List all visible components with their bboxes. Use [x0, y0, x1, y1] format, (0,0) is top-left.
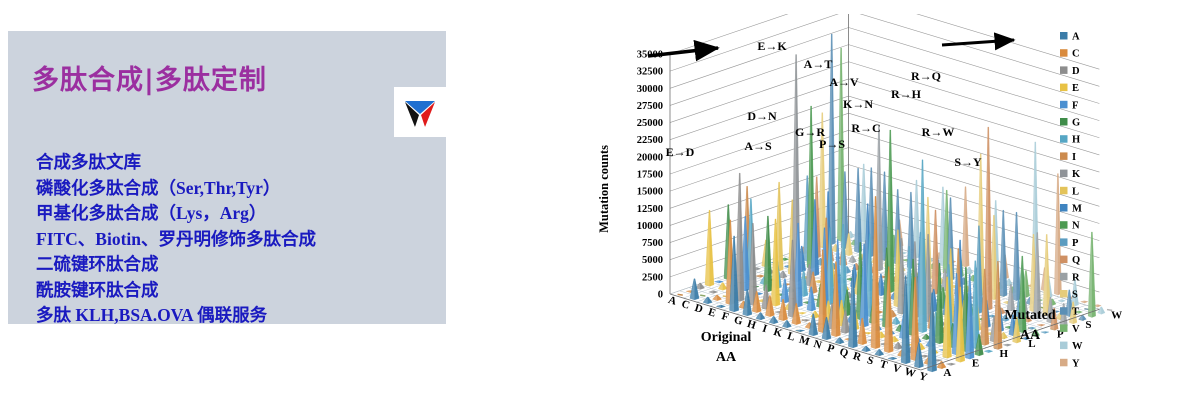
peak-annotation: R→C	[851, 121, 880, 135]
x-axis-title-line1: Original	[701, 330, 752, 345]
legend-swatch	[1060, 101, 1068, 109]
z-tick-label: 15000	[637, 187, 663, 198]
legend-swatch	[1060, 359, 1068, 367]
legend-label: Y	[1072, 358, 1080, 369]
y-axis-title-line2: AA	[1020, 328, 1041, 343]
peak-annotation: E→K	[757, 39, 787, 53]
list-item: 酰胺键环肽合成	[36, 278, 436, 304]
z-tick-label: 0	[658, 290, 663, 301]
legend-swatch	[1060, 342, 1068, 350]
z-tick-label: 20000	[637, 152, 663, 163]
legend-label: T	[1072, 307, 1079, 318]
legend-swatch	[1060, 32, 1068, 40]
legend-swatch	[1060, 118, 1068, 126]
legend-swatch	[1060, 135, 1068, 143]
legend-label: A	[1072, 32, 1080, 43]
peak-annotation: R→H	[891, 87, 922, 101]
legend-swatch	[1060, 49, 1068, 57]
legend-label: M	[1072, 204, 1082, 215]
legend-label: E	[1072, 83, 1079, 94]
z-tick-label: 17500	[637, 170, 663, 181]
legend-swatch	[1060, 307, 1068, 315]
legend-swatch	[1060, 238, 1068, 246]
z-tick-label: 22500	[637, 135, 663, 146]
legend-swatch	[1060, 170, 1068, 178]
legend-swatch	[1060, 152, 1068, 160]
y-tick-label: W	[1111, 309, 1122, 321]
y-tick-label: E	[972, 357, 979, 369]
peak-annotation: A→S	[744, 139, 772, 153]
peak-annotation: P→S	[819, 137, 845, 151]
z-tick-label: 10000	[637, 221, 663, 232]
legend-swatch	[1060, 66, 1068, 74]
x-axis-title-line2: AA	[716, 350, 737, 365]
y-tick-label: H	[999, 348, 1008, 360]
logo-icon	[394, 87, 446, 137]
peak-annotation: A→V	[829, 75, 859, 89]
peak-annotation: A→T	[804, 57, 833, 71]
z-tick-label: 30000	[637, 84, 663, 95]
list-item: 合成多肽文库	[36, 150, 436, 176]
list-item: FITC、Biotin、罗丹明修饰多肽合成	[36, 227, 436, 253]
legend-label: W	[1072, 341, 1083, 352]
legend-swatch	[1060, 221, 1068, 229]
z-tick-label: 27500	[637, 101, 663, 112]
peak-annotation: S→Y	[954, 155, 982, 169]
z-tick-label: 25000	[637, 118, 663, 129]
legend-swatch	[1060, 256, 1068, 264]
list-item: 二硫键环肽合成	[36, 252, 436, 278]
list-item: 磷酸化多肽合成（Ser,Thr,Tyr）	[36, 176, 436, 202]
legend-swatch	[1060, 324, 1068, 332]
z-tick-label: 7500	[642, 238, 663, 249]
peak-annotation: R→Q	[911, 69, 941, 83]
z-axis-title: Mutation counts	[597, 145, 611, 233]
legend-label: I	[1072, 152, 1076, 163]
z-tick-label: 5000	[642, 255, 663, 266]
legend-label: P	[1072, 238, 1079, 249]
list-item: 多肽 KLH,BSA.OVA 偶联服务	[36, 303, 436, 329]
z-tick-label: 32500	[637, 67, 663, 78]
legend-swatch	[1060, 204, 1068, 212]
legend-label: H	[1072, 135, 1080, 146]
peak-annotation: D→N	[747, 109, 777, 123]
legend-label: C	[1072, 49, 1080, 60]
mutation-counts-3d-chart: 3500032500300002750025000225002000017500…	[566, 14, 1192, 389]
legend-label: L	[1072, 186, 1079, 197]
chart-canvas: 3500032500300002750025000225002000017500…	[566, 14, 1192, 389]
legend-label: Q	[1072, 255, 1080, 266]
peak-annotation: E→D	[666, 145, 695, 159]
y-axis-title-line1: Mutated	[1004, 308, 1056, 323]
legend-label: R	[1072, 272, 1080, 283]
company-logo	[394, 87, 446, 137]
legend-label: G	[1072, 118, 1080, 129]
page-title: 多肽合成|多肽定制	[32, 58, 267, 97]
promo-panel: 多肽合成|多肽定制 合成多肽文库 磷酸化多肽合成（Ser,Thr,Tyr） 甲基…	[8, 31, 446, 324]
legend-label: S	[1072, 290, 1078, 301]
legend-label: N	[1072, 221, 1080, 232]
peak-annotation: K→N	[843, 97, 873, 111]
legend-label: V	[1072, 324, 1080, 335]
service-list: 合成多肽文库 磷酸化多肽合成（Ser,Thr,Tyr） 甲基化多肽合成（Lys，…	[36, 150, 436, 329]
z-tick-label: 12500	[637, 204, 663, 215]
legend-swatch	[1060, 273, 1068, 281]
legend-label: F	[1072, 100, 1078, 111]
y-tick-label: A	[943, 367, 951, 379]
y-tick-label: S	[1085, 319, 1091, 331]
legend-label: D	[1072, 66, 1080, 77]
z-tick-label: 2500	[642, 272, 663, 283]
legend-swatch	[1060, 290, 1068, 298]
legend-swatch	[1060, 84, 1068, 92]
legend-label: K	[1072, 169, 1081, 180]
peak-annotation: R→W	[922, 125, 955, 139]
legend-swatch	[1060, 187, 1068, 195]
list-item: 甲基化多肽合成（Lys，Arg）	[36, 201, 436, 227]
